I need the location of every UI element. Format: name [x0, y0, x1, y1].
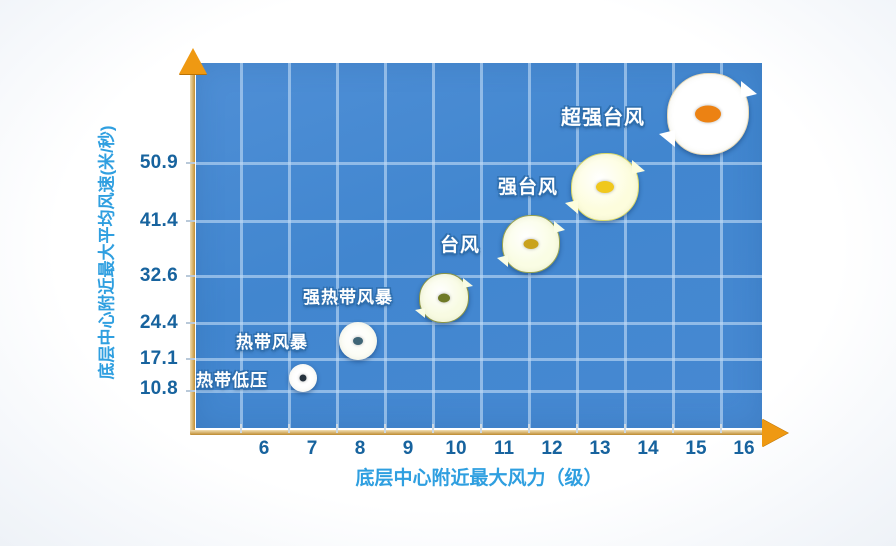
gridline-horizontal-5 — [196, 390, 762, 393]
x-tick-label-9: 15 — [676, 438, 716, 460]
storm-marker-severe-tropical-storm — [419, 273, 469, 323]
gridline-horizontal-0 — [196, 162, 762, 165]
gridline-horizontal-3 — [196, 322, 762, 325]
gridline-vertical-3 — [384, 63, 387, 428]
x-axis-arrow-icon — [762, 419, 788, 447]
tick-x-6 — [528, 424, 530, 433]
storm-tail-lower-strong-typhoon — [565, 200, 578, 214]
tick-x-0 — [240, 424, 242, 433]
category-label-strong-typhoon: 强台风 — [498, 172, 558, 199]
x-tick-label-0: 6 — [244, 438, 284, 460]
tick-x-7 — [576, 424, 578, 433]
y-axis-title: 底层中心附近最大平均风速(米/秒) — [93, 88, 118, 418]
storm-marker-tropical-depression — [289, 364, 317, 392]
storm-eye-severe-tropical-storm — [438, 294, 450, 303]
gridline-horizontal-4 — [196, 358, 762, 361]
storm-marker-tropical-storm — [339, 322, 377, 360]
tick-y-3 — [186, 322, 195, 324]
y-tick-label-4: 17.1 — [118, 348, 178, 370]
x-tick-label-7: 13 — [580, 438, 620, 460]
storm-eye-tropical-depression — [300, 375, 307, 382]
y-tick-label-2: 32.6 — [118, 265, 178, 287]
storm-eye-super-typhoon — [695, 106, 721, 123]
x-tick-label-2: 8 — [340, 438, 380, 460]
tick-x-3 — [384, 424, 386, 433]
gridline-vertical-5 — [480, 63, 483, 428]
gridline-vertical-4 — [432, 63, 435, 428]
y-tick-label-0: 50.9 — [118, 152, 178, 174]
tick-x-9 — [672, 424, 674, 433]
gridline-horizontal-1 — [196, 220, 762, 223]
storm-marker-super-typhoon — [667, 73, 749, 155]
x-tick-label-4: 10 — [436, 438, 476, 460]
tick-x-10 — [720, 424, 722, 433]
x-tick-label-10: 16 — [724, 438, 764, 460]
x-tick-label-1: 7 — [292, 438, 332, 460]
tick-y-5 — [186, 390, 195, 392]
storm-eye-strong-typhoon — [596, 181, 614, 193]
y-axis-arrow-icon — [179, 48, 207, 74]
storm-eye-tropical-storm — [353, 337, 363, 345]
tick-y-4 — [186, 358, 195, 360]
chart-canvas: 热带低压热带风暴强热带风暴台风强台风超强台风 50.941.432.624.41… — [0, 0, 896, 546]
tick-x-8 — [624, 424, 626, 433]
tick-x-2 — [336, 424, 338, 433]
storm-marker-typhoon — [502, 215, 560, 273]
storm-tail-lower-super-typhoon — [659, 130, 675, 147]
y-axis-line — [190, 70, 195, 435]
storm-tail-lower-severe-tropical-storm — [415, 308, 425, 318]
x-tick-label-3: 9 — [388, 438, 428, 460]
storm-tail-upper-strong-typhoon — [632, 160, 645, 174]
plot-area: 热带低压热带风暴强热带风暴台风强台风超强台风 — [196, 63, 762, 428]
x-tick-label-8: 14 — [628, 438, 668, 460]
tick-y-2 — [186, 275, 195, 277]
category-label-tropical-depression: 热带低压 — [196, 366, 268, 391]
y-tick-label-5: 10.8 — [118, 378, 178, 400]
x-tick-label-6: 12 — [532, 438, 572, 460]
category-label-super-typhoon: 超强台风 — [561, 101, 645, 130]
storm-tail-lower-typhoon — [497, 255, 508, 267]
y-tick-label-1: 41.4 — [118, 210, 178, 232]
storm-tail-upper-severe-tropical-storm — [463, 278, 473, 288]
tick-x-1 — [288, 424, 290, 433]
y-axis-tick-labels: 50.941.432.624.417.110.8 — [112, 0, 178, 546]
category-label-severe-tropical-storm: 强热带风暴 — [303, 283, 393, 308]
category-label-tropical-storm: 热带风暴 — [236, 328, 308, 353]
storm-tail-upper-typhoon — [554, 221, 565, 233]
tick-x-5 — [480, 424, 482, 433]
y-tick-label-3: 24.4 — [118, 312, 178, 334]
tick-y-1 — [186, 220, 195, 222]
storm-tail-upper-super-typhoon — [741, 81, 757, 98]
x-tick-label-5: 11 — [484, 438, 524, 460]
gridline-horizontal-2 — [196, 275, 762, 278]
category-label-typhoon: 台风 — [440, 230, 480, 257]
storm-marker-strong-typhoon — [571, 153, 639, 221]
gridline-vertical-2 — [336, 63, 339, 428]
tick-y-0 — [186, 162, 195, 164]
x-axis-title: 底层中心附近最大风力（级） — [196, 463, 762, 490]
storm-eye-typhoon — [524, 239, 539, 249]
tick-x-4 — [432, 424, 434, 433]
